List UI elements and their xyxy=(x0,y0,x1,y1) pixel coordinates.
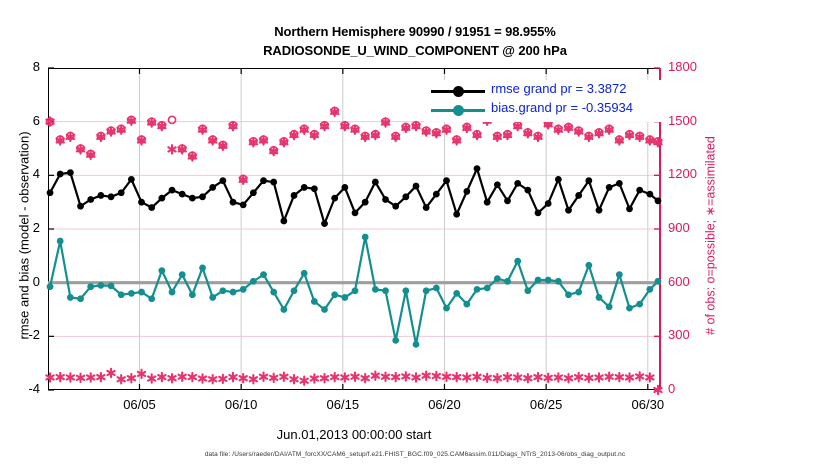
data-point xyxy=(596,294,603,301)
data-point-assimilated xyxy=(87,373,94,381)
data-point xyxy=(555,278,562,285)
data-point-assimilated xyxy=(453,373,460,381)
data-point-assimilated xyxy=(412,373,419,381)
data-point xyxy=(189,195,196,202)
data-point-assimilated xyxy=(626,373,633,381)
data-point-assimilated xyxy=(158,373,165,381)
data-point-assimilated xyxy=(463,373,470,381)
legend-label-rmse: rmse grand pr = 3.3872 xyxy=(491,81,627,96)
data-point xyxy=(362,199,369,206)
x-tick-label: 06/30 xyxy=(618,397,678,412)
data-point-assimilated xyxy=(433,372,440,380)
data-point xyxy=(97,282,104,289)
data-point xyxy=(352,287,359,294)
data-point-assimilated xyxy=(240,374,247,382)
data-point xyxy=(118,189,125,196)
data-point xyxy=(158,267,165,274)
data-point-assimilated xyxy=(321,374,328,382)
x-tick-label: 06/10 xyxy=(211,397,271,412)
data-point-assimilated xyxy=(290,375,297,383)
data-point-assimilated xyxy=(341,373,348,381)
data-point-assimilated xyxy=(331,373,338,381)
figure-root: Northern Hemisphere 90990 / 91951 = 98.9… xyxy=(0,0,830,470)
data-point xyxy=(47,283,54,290)
data-point-assimilated xyxy=(504,373,511,381)
x-tick-label: 06/20 xyxy=(414,397,474,412)
data-point xyxy=(423,287,430,294)
data-point xyxy=(545,200,552,207)
data-point xyxy=(321,306,328,313)
data-point-assimilated xyxy=(97,373,104,381)
data-point-assimilated xyxy=(585,374,592,382)
data-point xyxy=(575,192,582,199)
data-point xyxy=(280,306,287,313)
data-point xyxy=(474,165,481,172)
data-point xyxy=(47,189,54,196)
data-point-assimilated xyxy=(484,374,491,382)
data-point xyxy=(311,298,318,305)
data-point xyxy=(545,277,552,284)
data-point xyxy=(655,278,662,285)
data-point xyxy=(535,277,542,284)
data-point xyxy=(158,195,165,202)
data-point xyxy=(67,169,74,176)
data-point xyxy=(108,193,115,200)
data-point xyxy=(189,291,196,298)
data-point xyxy=(392,337,399,344)
data-point xyxy=(372,179,379,186)
data-point xyxy=(260,271,267,278)
data-point xyxy=(655,197,662,204)
data-point-assimilated xyxy=(57,373,64,381)
legend-marker-bias xyxy=(453,105,464,116)
data-point-assimilated xyxy=(260,373,267,381)
data-point-assimilated xyxy=(351,373,358,381)
data-point xyxy=(606,184,613,191)
x-axis-title: Jun.01,2013 00:00:00 start xyxy=(48,427,660,442)
data-point xyxy=(626,205,633,212)
data-point-assimilated xyxy=(138,370,145,378)
data-point xyxy=(392,203,399,210)
data-point xyxy=(565,207,572,214)
data-point-assimilated xyxy=(392,373,399,381)
data-point xyxy=(474,286,481,293)
data-point xyxy=(596,207,603,214)
data-point xyxy=(453,290,460,297)
data-point xyxy=(514,180,521,187)
data-point xyxy=(575,289,582,296)
data-point xyxy=(270,179,277,186)
data-point-assimilated xyxy=(229,373,236,381)
left-tick-label: 8 xyxy=(4,59,40,74)
data-point xyxy=(494,181,501,188)
data-point-assimilated xyxy=(67,373,74,381)
data-point xyxy=(504,197,511,204)
data-point-assimilated xyxy=(473,373,480,381)
data-point xyxy=(148,204,155,211)
data-point xyxy=(514,258,521,265)
data-point-assimilated xyxy=(494,374,501,382)
data-point-assimilated xyxy=(646,373,653,381)
data-point xyxy=(280,218,287,225)
data-point xyxy=(646,286,653,293)
data-point xyxy=(362,234,369,241)
data-point-assimilated xyxy=(189,373,196,381)
data-point xyxy=(250,189,257,196)
data-point xyxy=(524,187,531,194)
data-point xyxy=(219,177,226,184)
data-point xyxy=(118,291,125,298)
data-point xyxy=(97,192,104,199)
data-point xyxy=(402,193,409,200)
data-point-assimilated xyxy=(77,374,84,382)
data-point-assimilated xyxy=(148,374,155,382)
data-point-assimilated xyxy=(534,373,541,381)
data-point xyxy=(382,287,389,294)
data-point xyxy=(301,184,308,191)
data-point-assimilated xyxy=(555,373,562,381)
data-point-assimilated xyxy=(575,373,582,381)
right-tick-label: 1800 xyxy=(668,59,716,74)
data-point xyxy=(402,287,409,294)
data-point xyxy=(230,289,237,296)
data-point-assimilated xyxy=(118,375,125,383)
data-point-assimilated xyxy=(199,374,206,382)
data-point xyxy=(636,187,643,194)
data-point xyxy=(636,301,643,308)
data-point xyxy=(494,275,501,282)
data-point xyxy=(331,291,338,298)
data-point-assimilated xyxy=(402,372,409,380)
data-point xyxy=(179,271,186,278)
data-point-assimilated xyxy=(168,145,175,153)
data-point-assimilated xyxy=(362,374,369,382)
data-point xyxy=(301,270,308,277)
left-axis-title: rmse and bias (model - observation) xyxy=(17,81,32,391)
legend-item-rmse: rmse grand pr = 3.3872 xyxy=(425,81,661,100)
data-point xyxy=(484,199,491,206)
data-point-assimilated xyxy=(606,373,613,381)
data-point xyxy=(67,294,74,301)
data-point xyxy=(585,177,592,184)
data-point-assimilated xyxy=(209,375,216,383)
data-point xyxy=(423,204,430,211)
data-point xyxy=(240,286,247,293)
data-point-assimilated xyxy=(514,373,521,381)
data-point-assimilated xyxy=(46,373,53,381)
data-point-assimilated xyxy=(636,372,643,380)
data-point xyxy=(128,290,135,297)
legend-item-bias: bias.grand pr = -0.35934 xyxy=(425,100,661,119)
data-file-path: data file: /Users/raeder/DAI/ATM_forcXX/… xyxy=(0,451,830,458)
data-point xyxy=(240,201,247,208)
data-point xyxy=(352,210,359,217)
data-point xyxy=(138,289,145,296)
data-point-assimilated xyxy=(545,374,552,382)
data-point xyxy=(311,185,318,192)
data-point-assimilated xyxy=(372,371,379,379)
data-point-assimilated xyxy=(616,373,623,381)
data-point xyxy=(87,196,94,203)
data-point-assimilated xyxy=(565,374,572,382)
x-tick-label: 06/05 xyxy=(109,397,169,412)
data-point xyxy=(57,238,64,245)
data-point xyxy=(341,184,348,191)
data-point xyxy=(413,341,420,348)
data-point-assimilated xyxy=(595,373,602,381)
data-point xyxy=(219,287,226,294)
data-point xyxy=(128,176,135,183)
data-point xyxy=(199,265,206,272)
data-point xyxy=(169,187,176,194)
x-tick-label: 06/25 xyxy=(516,397,576,412)
data-point xyxy=(443,177,450,184)
data-point xyxy=(606,303,613,310)
data-point-assimilated xyxy=(219,375,226,383)
data-point xyxy=(179,191,186,198)
data-point xyxy=(535,210,542,217)
data-point xyxy=(565,291,572,298)
data-point xyxy=(616,180,623,187)
data-point xyxy=(453,211,460,218)
data-point-assimilated xyxy=(524,374,531,382)
data-point xyxy=(250,278,257,285)
data-point xyxy=(524,287,531,294)
data-point-assimilated xyxy=(107,369,114,377)
data-point xyxy=(504,278,511,285)
data-point xyxy=(331,195,338,202)
data-point xyxy=(87,283,94,290)
data-point-assimilated xyxy=(382,373,389,381)
data-point xyxy=(433,285,440,292)
data-point xyxy=(291,192,298,199)
data-point-assimilated xyxy=(311,374,318,382)
data-point xyxy=(209,294,216,301)
data-point-assimilated xyxy=(301,376,308,384)
data-point xyxy=(443,305,450,312)
right-axis-title: # of obs: o=possible; ∗=assimilated xyxy=(703,81,718,391)
legend-marker-rmse xyxy=(453,86,464,97)
data-point xyxy=(382,196,389,203)
data-point xyxy=(138,199,145,206)
data-point xyxy=(555,176,562,183)
data-point xyxy=(463,301,470,308)
data-point-assimilated xyxy=(168,374,175,382)
data-point xyxy=(148,295,155,302)
data-point xyxy=(341,294,348,301)
data-point xyxy=(484,285,491,292)
data-point xyxy=(260,177,267,184)
data-point xyxy=(321,220,328,227)
data-point xyxy=(646,191,653,198)
data-point-assimilated xyxy=(179,373,186,381)
data-point xyxy=(199,193,206,200)
data-point-assimilated xyxy=(128,374,135,382)
data-point-possible xyxy=(168,116,175,123)
data-point xyxy=(169,289,176,296)
chart-legend: rmse grand pr = 3.3872 bias.grand pr = -… xyxy=(424,80,662,122)
data-point xyxy=(77,203,84,210)
data-point xyxy=(230,199,237,206)
data-point xyxy=(270,289,277,296)
legend-label-bias: bias.grand pr = -0.35934 xyxy=(491,100,633,115)
data-point xyxy=(291,287,298,294)
data-point xyxy=(372,286,379,293)
data-point xyxy=(413,183,420,190)
data-point xyxy=(463,188,470,195)
data-point xyxy=(57,171,64,178)
data-point xyxy=(626,305,633,312)
data-point-assimilated xyxy=(443,373,450,381)
data-point xyxy=(209,184,216,191)
data-point-assimilated xyxy=(250,375,257,383)
data-point xyxy=(616,271,623,278)
data-point xyxy=(108,282,115,289)
data-point xyxy=(77,295,84,302)
x-tick-label: 06/15 xyxy=(313,397,373,412)
data-point-assimilated xyxy=(423,371,430,379)
data-point xyxy=(585,262,592,269)
data-point-assimilated xyxy=(270,374,277,382)
data-point-assimilated xyxy=(280,373,287,381)
data-point xyxy=(433,191,440,198)
